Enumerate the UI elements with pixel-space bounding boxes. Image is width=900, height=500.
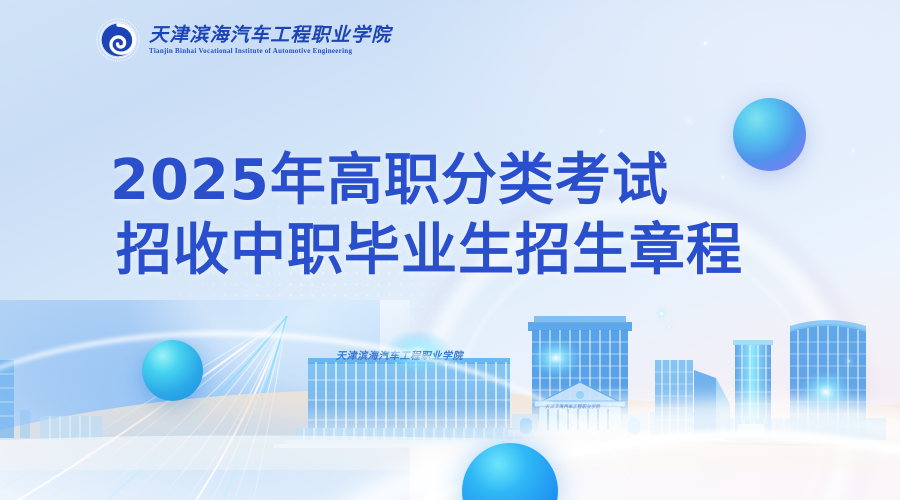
far-left-buildings [0, 360, 102, 440]
sparkle-icon [688, 120, 690, 122]
promo-banner: 天津滨海汽车工程职业学院 天津滨海汽车工程职业学院 天津滨海汽车工程职业学院 T… [0, 0, 900, 500]
sparkle-icon [668, 326, 670, 328]
sparkle-icon [704, 42, 707, 45]
campus-building-sign-text: 天津滨海汽车工程职业学院 [336, 347, 463, 362]
decor-sphere-top-right [733, 98, 806, 171]
decor-sphere-mid-left [142, 340, 203, 401]
sparkle-icon [852, 150, 854, 152]
brand-logo-bar: 天津滨海汽车工程职业学院 Tianjin Binhai Vocational I… [96, 18, 391, 62]
headline-line-2: 招收中职毕业生招生章程 [110, 216, 743, 286]
sparkle-icon [848, 360, 850, 362]
bottom-swoosh-wide [236, 369, 900, 500]
bottom-swoosh-thin [290, 409, 900, 500]
city-highrise-cluster [655, 320, 886, 440]
bottom-left-blue-wash [0, 300, 410, 500]
decor-sphere-bottom-center [462, 443, 558, 500]
campus-gate-building [508, 316, 720, 436]
spiral-wave-emblem-icon [96, 18, 140, 62]
brand-name-en: Tianjin Binhai Vocational Institute of A… [149, 47, 391, 56]
campus-main-building [274, 330, 542, 448]
campus-gate-sign-text: 天津滨海汽车工程职业学院 [545, 404, 600, 410]
brand-name-cn: 天津滨海汽车工程职业学院 [149, 25, 391, 46]
light-rays-decoration [0, 300, 380, 500]
headline-line-1: 2025年高职分类考试 [110, 146, 743, 216]
sparkle-icon [600, 130, 602, 132]
brand-text: 天津滨海汽车工程职业学院 Tianjin Binhai Vocational I… [149, 25, 391, 56]
sparkle-icon [660, 312, 663, 315]
headline-block: 2025年高职分类考试 招收中职毕业生招生章程 [110, 146, 743, 286]
